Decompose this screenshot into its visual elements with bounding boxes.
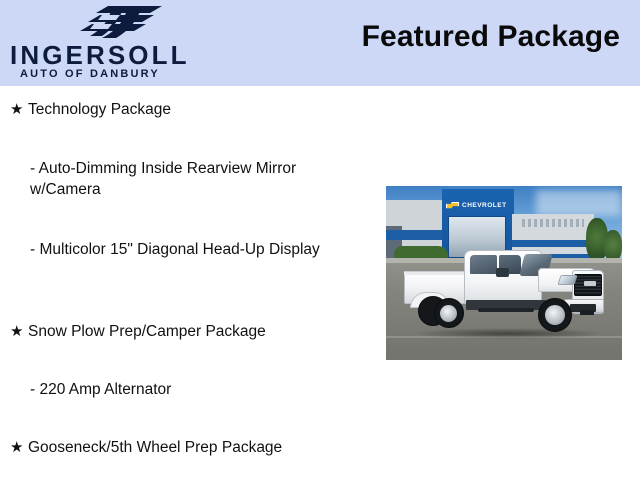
dealer-sign-text: CHEVROLET bbox=[462, 202, 510, 209]
gmc-badge bbox=[584, 281, 596, 286]
package-feature: - Multicolor 15" Diagonal Head-Up Displa… bbox=[30, 241, 320, 258]
header-band: INGERSOLL AUTO OF DANBURY Featured Packa… bbox=[0, 0, 640, 86]
dealership-sign: CHEVROLET bbox=[446, 198, 510, 212]
star-bullet-icon: ★ bbox=[10, 99, 28, 120]
package-name: Snow Plow Prep/Camper Package bbox=[28, 321, 380, 342]
building-blue-stripe bbox=[386, 230, 448, 240]
chevrolet-bowtie-icon bbox=[446, 202, 459, 209]
star-bullet-icon: ★ bbox=[10, 437, 28, 458]
truck-shadow bbox=[412, 328, 604, 339]
dealer-brand-block[interactable]: INGERSOLL AUTO OF DANBURY bbox=[8, 2, 208, 84]
list-item[interactable]: ★ Technology Package bbox=[10, 99, 380, 120]
list-item[interactable]: ★ Gooseneck/5th Wheel Prep Package bbox=[10, 437, 380, 458]
pickup-truck bbox=[404, 244, 608, 340]
page-title: Featured Package bbox=[362, 20, 620, 54]
package-list: ★ Technology Package - Auto-Dimming Insi… bbox=[0, 86, 380, 480]
ingersoll-wing-logo-icon bbox=[50, 4, 168, 42]
building-signage bbox=[522, 219, 584, 227]
vehicle-photo: CHEVROLET bbox=[386, 186, 622, 360]
package-feature: - Auto-Dimming Inside Rearview Mirror w/… bbox=[30, 160, 296, 198]
tow-hook bbox=[580, 310, 594, 315]
rear-wheel-hub bbox=[440, 305, 457, 322]
front-wheel-hub bbox=[545, 305, 565, 325]
list-item: - Multicolor 15" Diagonal Head-Up Displa… bbox=[30, 239, 360, 260]
package-feature: - 220 Amp Alternator bbox=[30, 381, 171, 398]
dealer-tagline: AUTO OF DANBURY bbox=[20, 68, 206, 80]
mirror-arm bbox=[508, 272, 514, 274]
headlight bbox=[557, 275, 577, 285]
package-name: Technology Package bbox=[28, 99, 380, 120]
rear-door-window bbox=[470, 255, 497, 274]
running-board bbox=[478, 308, 534, 312]
cloud bbox=[536, 190, 622, 216]
list-item: - 220 Amp Alternator bbox=[30, 379, 360, 400]
dealer-wordmark: INGERSOLL bbox=[10, 42, 206, 68]
featured-package-slide: INGERSOLL AUTO OF DANBURY Featured Packa… bbox=[0, 0, 640, 480]
star-bullet-icon: ★ bbox=[10, 321, 28, 342]
list-item[interactable]: ★ Snow Plow Prep/Camper Package bbox=[10, 321, 380, 342]
list-item: - Auto-Dimming Inside Rearview Mirror w/… bbox=[30, 158, 360, 200]
package-name: Gooseneck/5th Wheel Prep Package bbox=[28, 437, 380, 458]
